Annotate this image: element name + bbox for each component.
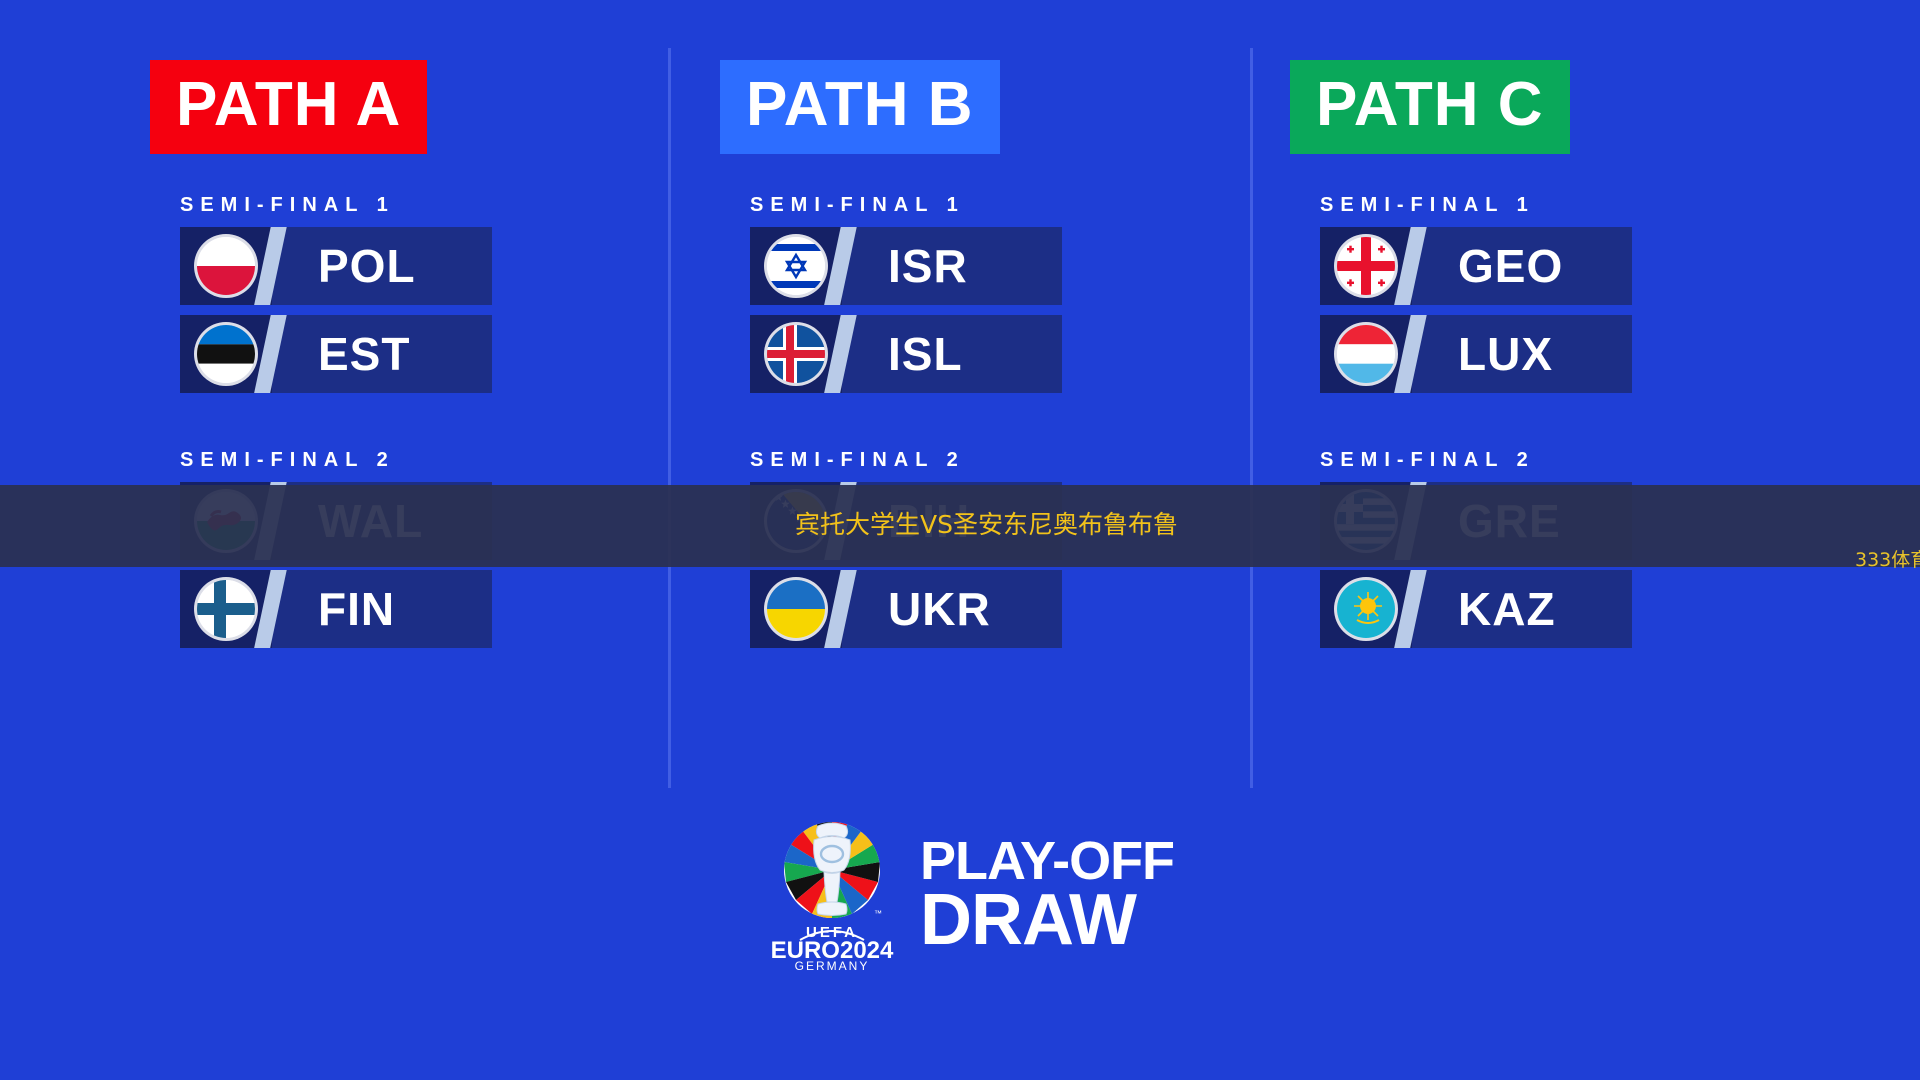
uefa-euro-2024-trophy-logo: ™ UEFA EURO2024 GERMANY	[770, 820, 894, 970]
paths-container: PATH A SEMI-FINAL 1 POL EST	[0, 0, 1920, 820]
path-column-c: PATH C SEMI-FINAL 1	[1290, 60, 1810, 658]
team-row[interactable]: KAZ	[1320, 570, 1632, 648]
path-a-title: PATH A	[150, 60, 427, 154]
playoff-draw-title: PLAY-OFF DRAW	[920, 836, 1174, 954]
broadcast-graphic: PATH A SEMI-FINAL 1 POL EST	[0, 0, 1920, 1080]
path-a-semifinal-2-label: SEMI-FINAL 2	[180, 449, 670, 472]
team-row[interactable]: GEO	[1320, 227, 1632, 305]
team-row[interactable]: FIN	[180, 570, 492, 648]
luxembourg-flag	[1337, 325, 1395, 383]
team-row[interactable]: UKR	[750, 570, 1062, 648]
team-row[interactable]: LUX	[1320, 315, 1632, 393]
israel-flag	[767, 237, 825, 295]
estonia-flag	[197, 325, 255, 383]
path-c-semifinal-2-label: SEMI-FINAL 2	[1320, 449, 1810, 472]
footer-branding: ™ UEFA EURO2024 GERMANY PLAY-OFF DRAW	[770, 820, 1174, 970]
team-row[interactable]: POL	[180, 227, 492, 305]
title-line-2: DRAW	[920, 887, 1174, 955]
kazakhstan-flag	[1337, 580, 1395, 638]
team-code: KAZ	[1458, 586, 1556, 632]
path-column-a: PATH A SEMI-FINAL 1 POL EST	[150, 60, 670, 658]
svg-text:GERMANY: GERMANY	[795, 959, 870, 970]
team-code: EST	[318, 331, 410, 377]
team-row[interactable]: EST	[180, 315, 492, 393]
georgia-flag	[1337, 237, 1395, 295]
team-code: UKR	[888, 586, 991, 632]
team-code: GEO	[1458, 243, 1563, 289]
path-a-semifinal-1-label: SEMI-FINAL 1	[180, 194, 670, 217]
poland-flag	[197, 237, 255, 295]
overlay-watermark: 333体育	[1855, 545, 1920, 572]
ukraine-flag	[767, 580, 825, 638]
path-column-b: PATH B SEMI-FINAL 1 ISR	[720, 60, 1240, 658]
path-b-title: PATH B	[720, 60, 1000, 154]
team-code: LUX	[1458, 331, 1553, 377]
path-b-semifinal-1-label: SEMI-FINAL 1	[750, 194, 1240, 217]
team-code: ISR	[888, 243, 968, 289]
team-code: FIN	[318, 586, 395, 632]
finland-flag	[197, 580, 255, 638]
team-row[interactable]: ISR	[750, 227, 1062, 305]
overlay-ticker-text: 宾托大学生VS圣安东尼奥布鲁布鲁	[795, 505, 1215, 541]
iceland-flag	[767, 325, 825, 383]
team-code: ISL	[888, 331, 963, 377]
path-c-title: PATH C	[1290, 60, 1570, 154]
svg-text:™: ™	[874, 909, 882, 918]
team-row[interactable]: ISL	[750, 315, 1062, 393]
title-line-1: PLAY-OFF	[920, 836, 1174, 887]
team-code: POL	[318, 243, 416, 289]
path-c-semifinal-1-label: SEMI-FINAL 1	[1320, 194, 1810, 217]
path-b-semifinal-2-label: SEMI-FINAL 2	[750, 449, 1240, 472]
